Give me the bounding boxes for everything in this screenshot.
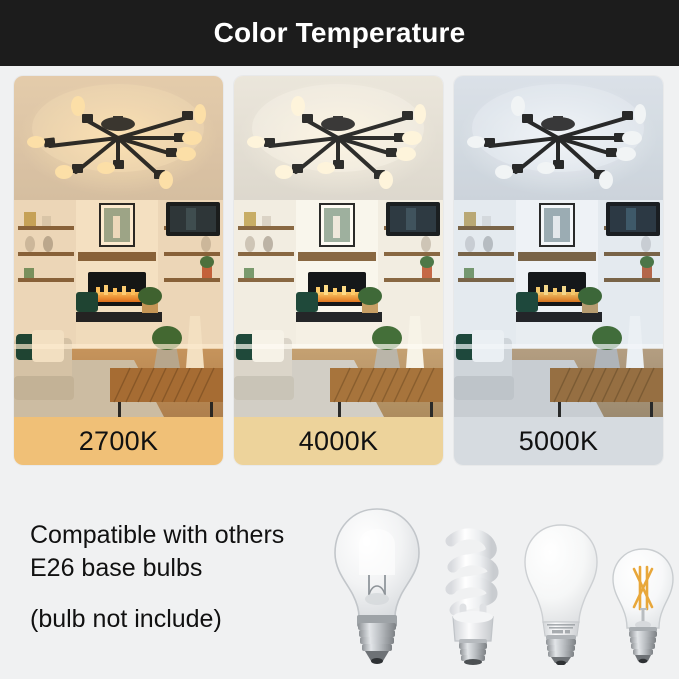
page-title: Color Temperature xyxy=(214,17,466,49)
room-photo-2700k xyxy=(14,76,223,417)
compatibility-copy: Compatible with others E26 base bulbs (b… xyxy=(0,519,329,636)
room-photo-5000k xyxy=(454,76,663,417)
temperature-panel-4000k[interactable]: 4000K xyxy=(234,76,443,465)
color-temperature-panels: 2700K xyxy=(14,76,665,465)
temperature-label-2700k: 2700K xyxy=(14,417,223,465)
led-filament-bulb-icon xyxy=(607,545,679,665)
temperature-panel-2700k[interactable]: 2700K xyxy=(14,76,223,465)
room-scene-illustration xyxy=(454,76,663,417)
compatibility-line-2: E26 base bulbs xyxy=(30,552,329,585)
cfl-spiral-bulb-icon xyxy=(429,515,515,665)
sputnik-ceiling-light xyxy=(458,80,658,196)
compatibility-line-1: Compatible with others xyxy=(30,519,329,552)
temperature-label-4000k: 4000K xyxy=(234,417,443,465)
header-bar: Color Temperature xyxy=(0,0,679,66)
bulb-types-illustration xyxy=(329,490,679,665)
led-a19-bulb-icon xyxy=(519,520,603,665)
temperature-label-5000k: 5000K xyxy=(454,417,663,465)
compatibility-section: Compatible with others E26 base bulbs (b… xyxy=(0,475,679,679)
room-scene-illustration xyxy=(234,76,443,417)
sputnik-ceiling-light xyxy=(18,80,218,196)
room-photo-4000k xyxy=(234,76,443,417)
temperature-panel-5000k[interactable]: 5000K xyxy=(454,76,663,465)
compatibility-line-3: (bulb not include) xyxy=(30,603,329,636)
sputnik-ceiling-light xyxy=(238,80,438,196)
room-scene-illustration xyxy=(14,76,223,417)
product-infographic: Color Temperature xyxy=(0,0,679,679)
incandescent-bulb-icon xyxy=(329,503,425,665)
